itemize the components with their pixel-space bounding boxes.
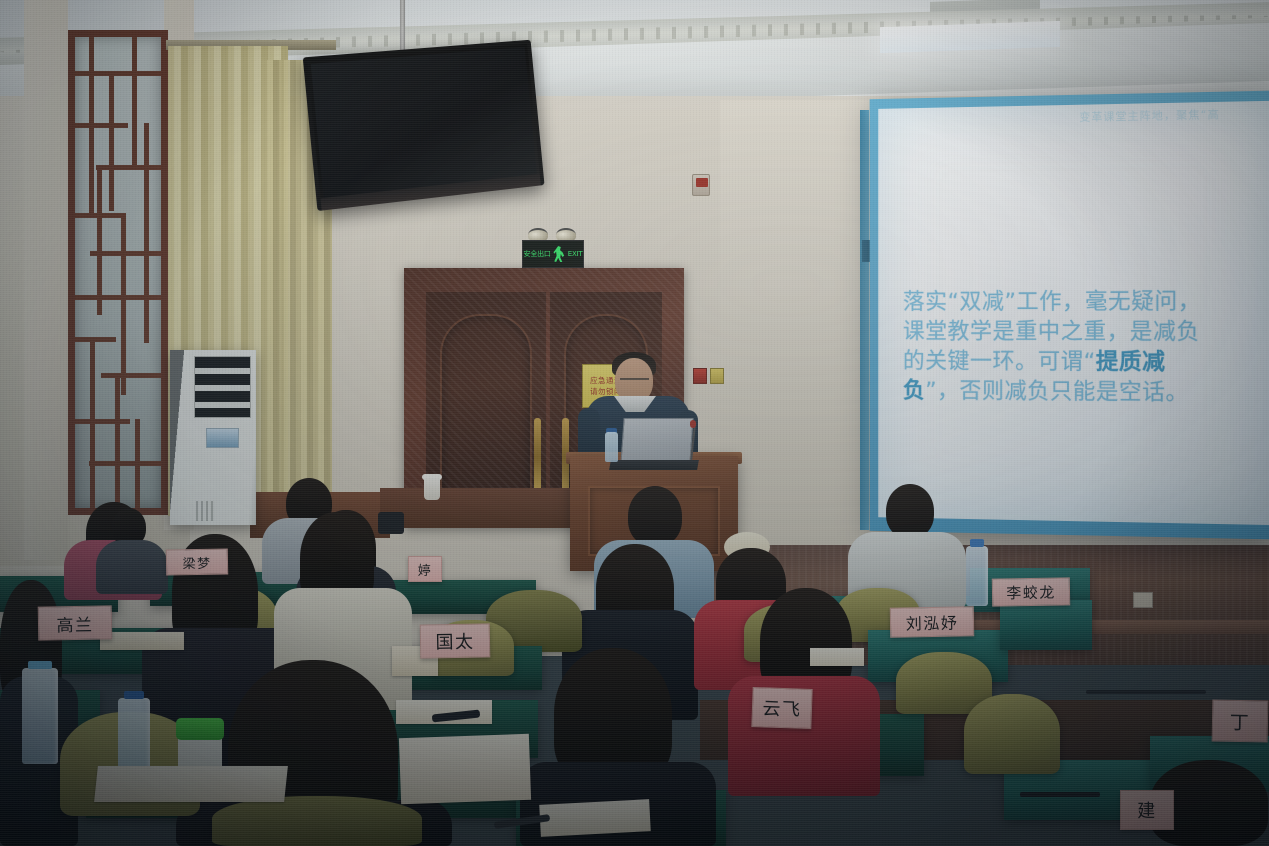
cable: [1020, 792, 1100, 797]
name-placard: 高兰: [38, 605, 113, 640]
wall-speaker-icon: [692, 174, 710, 196]
slide-line-1: 落实“双减”工作，毫无疑问，: [903, 289, 1201, 315]
fire-alarm-icon[interactable]: [693, 368, 707, 384]
sports-bottle: [22, 668, 58, 764]
name-placard-label: 高兰: [56, 610, 93, 636]
laptop-screen[interactable]: [620, 418, 693, 464]
projection-screen-edge: [860, 110, 869, 530]
slide-line-2: 课堂教学是重中之重，是减负: [903, 319, 1200, 345]
notebook: [100, 632, 184, 650]
name-placard-label: 建: [1137, 797, 1157, 823]
chair[interactable]: [212, 796, 422, 846]
alarm-panel-icon[interactable]: [710, 368, 724, 384]
slide-line-3: 的关键一环。可谓“: [903, 348, 1096, 375]
exit-sign-label-en: EXIT: [568, 250, 583, 258]
name-placard: 李蛟龙: [992, 577, 1070, 606]
name-placard-label: 刘泓妤: [906, 610, 959, 635]
slide-line-3-bold: 提质减: [1096, 349, 1166, 375]
door-handle[interactable]: [534, 418, 541, 496]
teacup: [424, 478, 440, 500]
name-placard: 国太: [420, 623, 491, 658]
laptop-keyboard[interactable]: [609, 460, 699, 470]
cable: [1086, 690, 1206, 694]
name-placard-label: 丁: [1230, 707, 1251, 734]
paper-stack: [810, 648, 864, 666]
name-placard: 梁梦: [166, 548, 228, 575]
air-conditioner-display: [206, 428, 239, 448]
chair[interactable]: [964, 694, 1060, 774]
table-row-mid-right2: [1000, 600, 1092, 650]
ceiling-television: [303, 40, 545, 211]
slide-line-4: ”，否则减负只能是空话。: [925, 378, 1189, 406]
microphone-icon[interactable]: [690, 420, 696, 428]
open-notebook: [94, 766, 288, 802]
exit-sign: 安全出口 EXIT: [522, 240, 584, 268]
air-conditioner-vent: [194, 356, 251, 418]
slide-header-text: 变革课堂主阵地，聚焦“高: [1079, 107, 1269, 125]
speaker-glasses-icon: [620, 378, 649, 384]
lattice-screen-icon: [68, 30, 168, 515]
handout-paper: [399, 734, 531, 804]
name-placard: 刘泓妤: [890, 606, 975, 637]
name-placard-label: 梁梦: [182, 552, 211, 572]
air-conditioner-grille: [196, 501, 215, 521]
running-man-icon: [553, 246, 566, 262]
name-placard: 建: [1120, 790, 1174, 830]
wall-outlet[interactable]: [1133, 592, 1153, 608]
water-bottle: [605, 432, 618, 462]
conference-room-photo: 变革课堂主阵地，聚焦“高 落实“双减”工作，毫无疑问， 课堂教学是重中之重，是减…: [0, 0, 1269, 846]
shaker-lid: [176, 718, 224, 740]
name-placard-label: 婷: [418, 560, 433, 579]
water-bottle: [966, 546, 988, 606]
name-placard: 婷: [408, 556, 442, 582]
name-placard: 云飞: [751, 687, 812, 729]
handout-paper: [539, 799, 651, 837]
air-conditioner: [170, 350, 256, 525]
marble-pilaster-left: [24, 0, 68, 560]
slide-body-text: 落实“双减”工作，毫无疑问， 课堂教学是重中之重，是减负 的关键一环。可谓“提质…: [903, 288, 1258, 410]
projected-slide: 变革课堂主阵地，聚焦“高 落实“双减”工作，毫无疑问， 课堂教学是重中之重，是减…: [878, 101, 1269, 525]
name-placard-label: 李蛟龙: [1006, 581, 1056, 603]
name-placard-label: 国太: [435, 628, 474, 655]
name-placard-label: 云飞: [762, 694, 802, 721]
exit-sign-label-cn: 安全出口: [524, 249, 551, 259]
slide-line-4-bold: 负: [903, 378, 925, 404]
projection-screen: 变革课堂主阵地，聚焦“高 落实“双减”工作，毫无疑问， 课堂教学是重中之重，是减…: [870, 91, 1269, 540]
name-placard: 丁: [1212, 700, 1269, 743]
phone-held-up[interactable]: [378, 512, 404, 534]
